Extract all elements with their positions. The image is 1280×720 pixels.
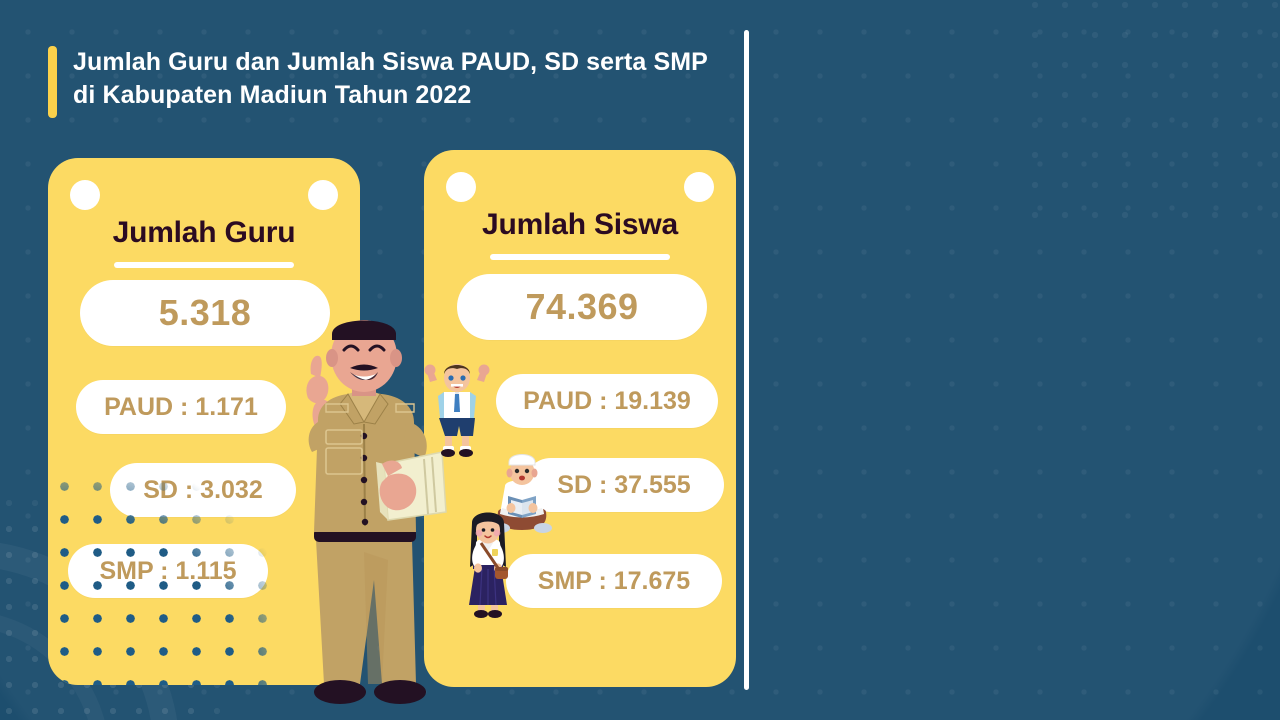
card-title-rule — [114, 262, 294, 268]
siswa-paud-value: PAUD : 19.139 — [496, 374, 718, 428]
card-title-siswa: Jumlah Siswa — [424, 208, 736, 242]
right-panel: Jumlah Guru dan Jumlah Siswa jenjang pen… — [745, 0, 1280, 720]
card-hole-left — [70, 180, 100, 210]
card-title-rule — [490, 254, 670, 260]
student-boy-illustration — [424, 358, 490, 458]
siswa-smp-value: SMP : 17.675 — [506, 554, 722, 608]
left-heading-text: Jumlah Guru dan Jumlah Siswa PAUD, SD se… — [73, 46, 728, 112]
student-girl-illustration — [455, 505, 521, 620]
card-hole-right — [684, 172, 714, 202]
card-title-guru: Jumlah Guru — [48, 216, 360, 250]
left-heading: Jumlah Guru dan Jumlah Siswa PAUD, SD se… — [48, 46, 728, 118]
card-hole-left — [446, 172, 476, 202]
siswa-total-value: 74.369 — [457, 274, 707, 340]
center-divider — [744, 30, 749, 690]
heading-accent-bar — [48, 46, 57, 118]
left-panel: Jumlah Guru dan Jumlah Siswa PAUD, SD se… — [0, 0, 745, 720]
guru-paud-value: PAUD : 1.171 — [76, 380, 286, 434]
card-hole-right — [308, 180, 338, 210]
card-dot-texture — [48, 470, 278, 685]
